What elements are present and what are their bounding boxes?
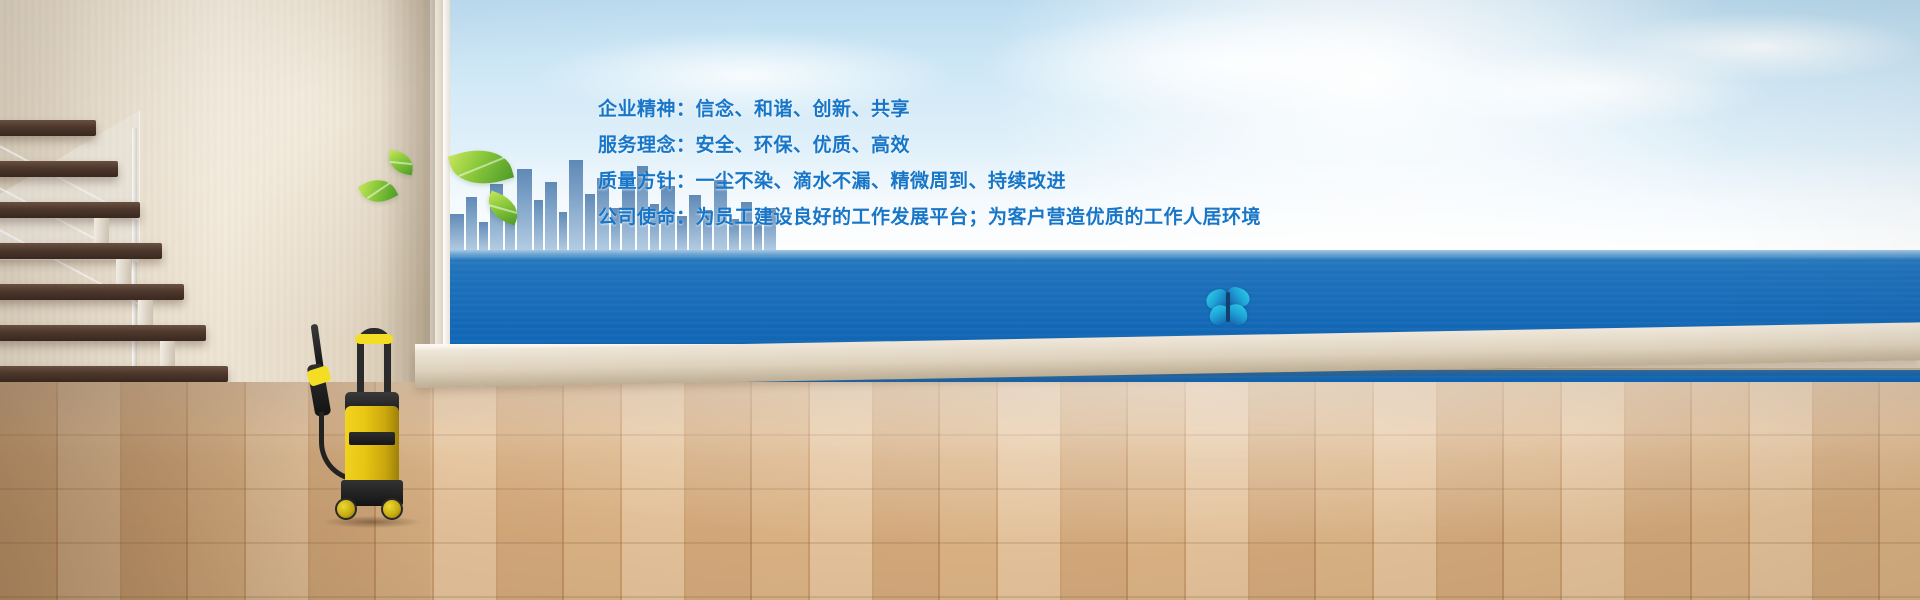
skyline-building (450, 214, 464, 252)
cloud (1595, 12, 1920, 82)
slogan-line-quality: 质量方针：一尘不染、滴水不漏、精微周到、持续改进 (598, 164, 1358, 200)
stair-tread (0, 284, 184, 300)
stair-tread (0, 243, 162, 259)
stair-tread (0, 161, 118, 177)
butterfly-body (1226, 292, 1230, 322)
washer-wheel-right (381, 498, 403, 520)
skyline-building (585, 194, 595, 252)
washer-handle-grip (355, 334, 393, 344)
stair-tread (0, 325, 206, 341)
skyline-building (517, 169, 532, 252)
slogan-block: 企业精神：信念、和谐、创新、共享 服务理念：安全、环保、优质、高效 质量方针：一… (598, 92, 1358, 236)
skyline-building (479, 222, 488, 252)
stair-tread (0, 120, 96, 136)
slogan-line-service: 服务理念：安全、环保、优质、高效 (598, 128, 1358, 164)
promo-banner: 企业精神：信念、和谐、创新、共享 服务理念：安全、环保、优质、高效 质量方针：一… (0, 0, 1920, 600)
skyline-building (545, 182, 557, 252)
leaf-vein (390, 161, 412, 165)
butterfly-icon (1205, 288, 1251, 332)
skyline-building (534, 200, 543, 252)
washer-label-plate (349, 432, 395, 445)
cloud (1395, 48, 1775, 128)
skyline-building (569, 160, 583, 252)
leaf-vein (367, 183, 390, 199)
skyline-building (466, 197, 477, 252)
stair-tread (0, 366, 228, 382)
washer-wheel-left (335, 498, 357, 520)
pressure-washer (305, 320, 430, 520)
leaf-vein (458, 157, 504, 177)
washer-floor-shadow (323, 516, 421, 528)
leaf-vein (489, 204, 517, 213)
slogan-line-mission: 公司使命：为员工建设良好的工作发展平台；为客户营造优质的工作人居环境 (598, 200, 1358, 236)
skyline-building (559, 212, 567, 252)
stair-tread (0, 202, 140, 218)
slogan-line-spirit: 企业精神：信念、和谐、创新、共享 (598, 92, 1358, 128)
